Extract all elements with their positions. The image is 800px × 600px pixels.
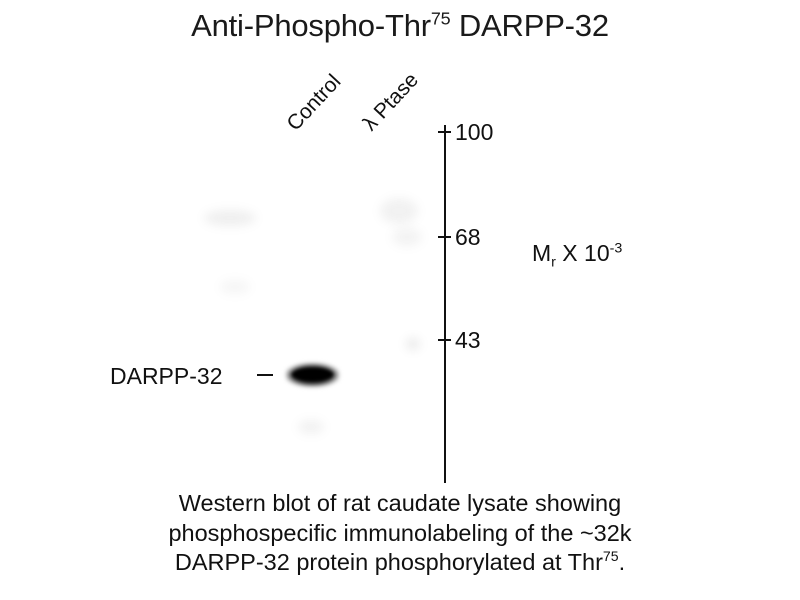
membrane-smudge bbox=[220, 280, 250, 294]
mr-superscript: -3 bbox=[610, 240, 623, 256]
caption-last-prefix: DARPP-32 protein phosphorylated at Thr bbox=[175, 549, 603, 575]
figure-title: Anti-Phospho-Thr75 DARPP-32 bbox=[0, 8, 800, 44]
membrane-smudge bbox=[392, 228, 422, 246]
figure-title-superscript: 75 bbox=[431, 9, 451, 29]
caption-last-suffix: . bbox=[619, 549, 626, 575]
mr-prefix: M bbox=[532, 240, 551, 266]
protein-band-core bbox=[292, 369, 333, 380]
figure-title-prefix: Anti-Phospho-Thr bbox=[191, 8, 431, 43]
marker-tick-icon bbox=[438, 131, 451, 133]
marker-tick-icon bbox=[438, 339, 451, 341]
figure-caption: Western blot of rat caudate lysate showi… bbox=[0, 489, 800, 578]
marker-value: 68 bbox=[455, 224, 481, 251]
marker-100: 100 bbox=[438, 121, 493, 143]
band-label-darpp32: DARPP-32 bbox=[110, 363, 222, 390]
blot-membrane bbox=[180, 120, 445, 485]
marker-tick-icon bbox=[438, 236, 451, 238]
marker-43: 43 bbox=[438, 329, 481, 351]
mr-middle: X 10 bbox=[556, 240, 610, 266]
figure-title-suffix: DARPP-32 bbox=[450, 8, 608, 43]
membrane-smudge bbox=[298, 420, 324, 434]
caption-line: phosphospecific immunolabeling of the ~3… bbox=[0, 519, 800, 549]
marker-value: 43 bbox=[455, 327, 481, 354]
western-blot-figure: Anti-Phospho-Thr75 DARPP-32 Control λ Pt… bbox=[0, 0, 800, 600]
membrane-smudge bbox=[204, 210, 256, 226]
membrane-smudge bbox=[380, 198, 418, 224]
caption-last-superscript: 75 bbox=[603, 548, 619, 564]
caption-line: Western blot of rat caudate lysate showi… bbox=[0, 489, 800, 519]
caption-line-last: DARPP-32 protein phosphorylated at Thr75… bbox=[0, 548, 800, 578]
marker-value: 100 bbox=[455, 119, 493, 146]
membrane-smudge bbox=[406, 338, 420, 350]
molecular-weight-axis-line bbox=[444, 125, 446, 483]
molecular-weight-unit-label: Mr X 10-3 bbox=[532, 240, 622, 267]
band-pointer-dash-icon bbox=[257, 374, 273, 376]
marker-68: 68 bbox=[438, 226, 481, 248]
